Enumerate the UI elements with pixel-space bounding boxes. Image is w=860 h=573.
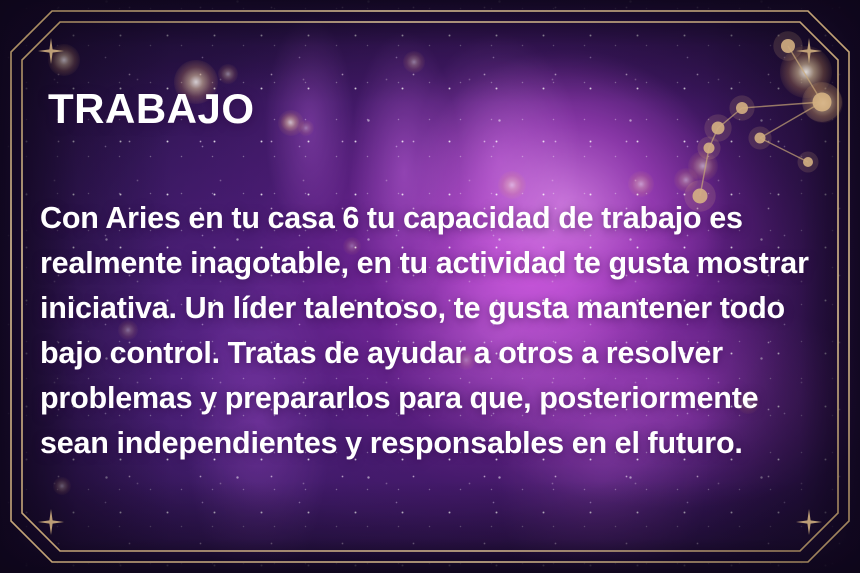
body-paragraph: Con Aries en tu casa 6 tu capacidad de t…	[40, 196, 830, 466]
horoscope-card: TRABAJO Con Aries en tu casa 6 tu capaci…	[0, 0, 860, 573]
page-title: TRABAJO	[48, 88, 255, 130]
card-content: TRABAJO Con Aries en tu casa 6 tu capaci…	[0, 0, 860, 573]
